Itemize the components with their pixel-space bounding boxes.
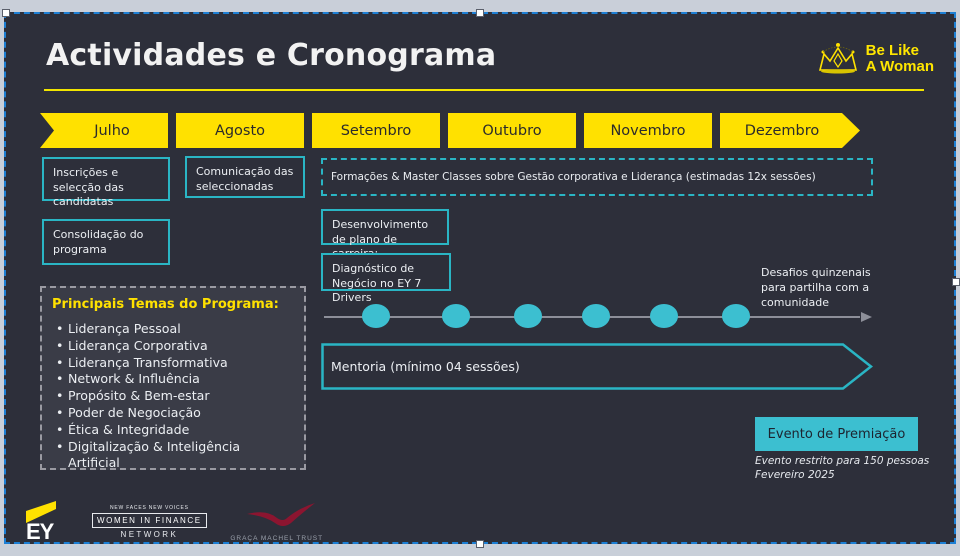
month-label: Agosto bbox=[215, 123, 265, 139]
crown-icon bbox=[816, 40, 860, 78]
month-label: Dezembro bbox=[745, 123, 819, 139]
mentoria-label: Mentoria (mínimo 04 sessões) bbox=[331, 359, 520, 374]
month-tab-setembro[interactable]: Setembro bbox=[312, 113, 440, 148]
timeline-milestone-dot[interactable] bbox=[722, 304, 750, 328]
list-item: Liderança Corporativa bbox=[68, 338, 294, 355]
nfnv-logo: NEW FACES NEW VOICES WOMEN IN FINANCE NE… bbox=[92, 505, 207, 539]
brand-line-2: A Woman bbox=[866, 59, 934, 75]
timeline-milestone-dot[interactable] bbox=[650, 304, 678, 328]
month-tab-dezembro[interactable]: Dezembro bbox=[720, 113, 860, 148]
ey-logo: EY bbox=[26, 501, 70, 543]
nfnv-line-3: NETWORK bbox=[92, 530, 207, 539]
timeline-track bbox=[324, 310, 872, 324]
gmt-label: GRAÇA MACHEL TRUST bbox=[229, 535, 325, 542]
page-title: Actividades e Cronograma bbox=[46, 38, 496, 73]
brand-line-1: Be Like bbox=[866, 43, 934, 59]
month-tab-agosto[interactable]: Agosto bbox=[176, 113, 304, 148]
brand-text: Be Like A Woman bbox=[866, 43, 934, 75]
temas-list: Liderança Pessoal Liderança Corporativa … bbox=[52, 321, 294, 472]
gmt-logo: GRAÇA MACHEL TRUST bbox=[229, 500, 325, 544]
bird-icon bbox=[233, 500, 329, 530]
brand-logo: Be Like A Woman bbox=[816, 40, 934, 78]
month-label: Novembro bbox=[610, 123, 685, 139]
month-label: Setembro bbox=[341, 123, 412, 139]
timeline-milestone-dot[interactable] bbox=[442, 304, 470, 328]
temas-panel[interactable]: Principais Temas do Programa: Liderança … bbox=[40, 286, 306, 470]
formacoes-bar[interactable]: Formações & Master Classes sobre Gestão … bbox=[321, 158, 873, 196]
selection-handle-top-left[interactable] bbox=[2, 9, 10, 17]
list-item: Digitalização & Inteligência Artificial bbox=[68, 439, 294, 473]
list-item: Liderança Transformativa bbox=[68, 355, 294, 372]
evento-premiacao-button[interactable]: Evento de Premiação bbox=[755, 417, 918, 451]
list-item: Propósito & Bem-estar bbox=[68, 388, 294, 405]
screenshot-canvas: Actividades e Cronograma Be Like A Woman bbox=[0, 0, 960, 556]
slide-canvas[interactable]: Actividades e Cronograma Be Like A Woman bbox=[4, 12, 956, 544]
mentoria-arrow-box[interactable]: Mentoria (mínimo 04 sessões) bbox=[321, 343, 873, 390]
activity-box-comunicacao[interactable]: Comunicação das seleccionadas bbox=[185, 156, 305, 198]
activity-box-inscricoes[interactable]: Inscrições e selecção das candidatas bbox=[42, 157, 170, 201]
timeline-milestone-dot[interactable] bbox=[362, 304, 390, 328]
activity-box-desenvolvimento[interactable]: Desenvolvimento de plano de carreira; bbox=[321, 209, 449, 245]
evento-premiacao-note: Evento restrito para 150 pessoas Feverei… bbox=[755, 455, 940, 483]
list-item: Network & Influência bbox=[68, 371, 294, 388]
temas-panel-title: Principais Temas do Programa: bbox=[52, 297, 294, 312]
timeline-milestone-dot[interactable] bbox=[582, 304, 610, 328]
timeline-arrow-icon bbox=[861, 312, 872, 322]
month-label: Julho bbox=[94, 123, 130, 139]
nfnv-line-2: WOMEN IN FINANCE bbox=[92, 513, 207, 528]
month-tab-novembro[interactable]: Novembro bbox=[584, 113, 712, 148]
timeline-note: Desafios quinzenais para partilha com a … bbox=[761, 266, 891, 311]
timeline-milestone-dot[interactable] bbox=[514, 304, 542, 328]
month-tab-julho[interactable]: Julho bbox=[40, 113, 168, 148]
ey-label: EY bbox=[26, 521, 53, 543]
activity-box-consolidacao[interactable]: Consolidação do programa bbox=[42, 219, 170, 265]
footer-logo-row: EY NEW FACES NEW VOICES WOMEN IN FINANCE… bbox=[26, 498, 325, 546]
month-tab-row: Julho Agosto Setembro Outubro Novembro D… bbox=[40, 113, 860, 148]
list-item: Liderança Pessoal bbox=[68, 321, 294, 338]
title-underline-rule bbox=[44, 89, 924, 91]
month-tab-outubro[interactable]: Outubro bbox=[448, 113, 576, 148]
activity-box-diagnostico[interactable]: Diagnóstico de Negócio no EY 7 Drivers bbox=[321, 253, 451, 291]
selection-handle-top-center[interactable] bbox=[476, 9, 484, 17]
list-item: Ética & Integridade bbox=[68, 422, 294, 439]
selection-handle-bottom-center[interactable] bbox=[476, 540, 484, 548]
nfnv-line-1: NEW FACES NEW VOICES bbox=[92, 505, 207, 511]
list-item: Poder de Negociação bbox=[68, 405, 294, 422]
selection-handle-middle-right[interactable] bbox=[952, 278, 960, 286]
month-label: Outubro bbox=[482, 123, 541, 139]
